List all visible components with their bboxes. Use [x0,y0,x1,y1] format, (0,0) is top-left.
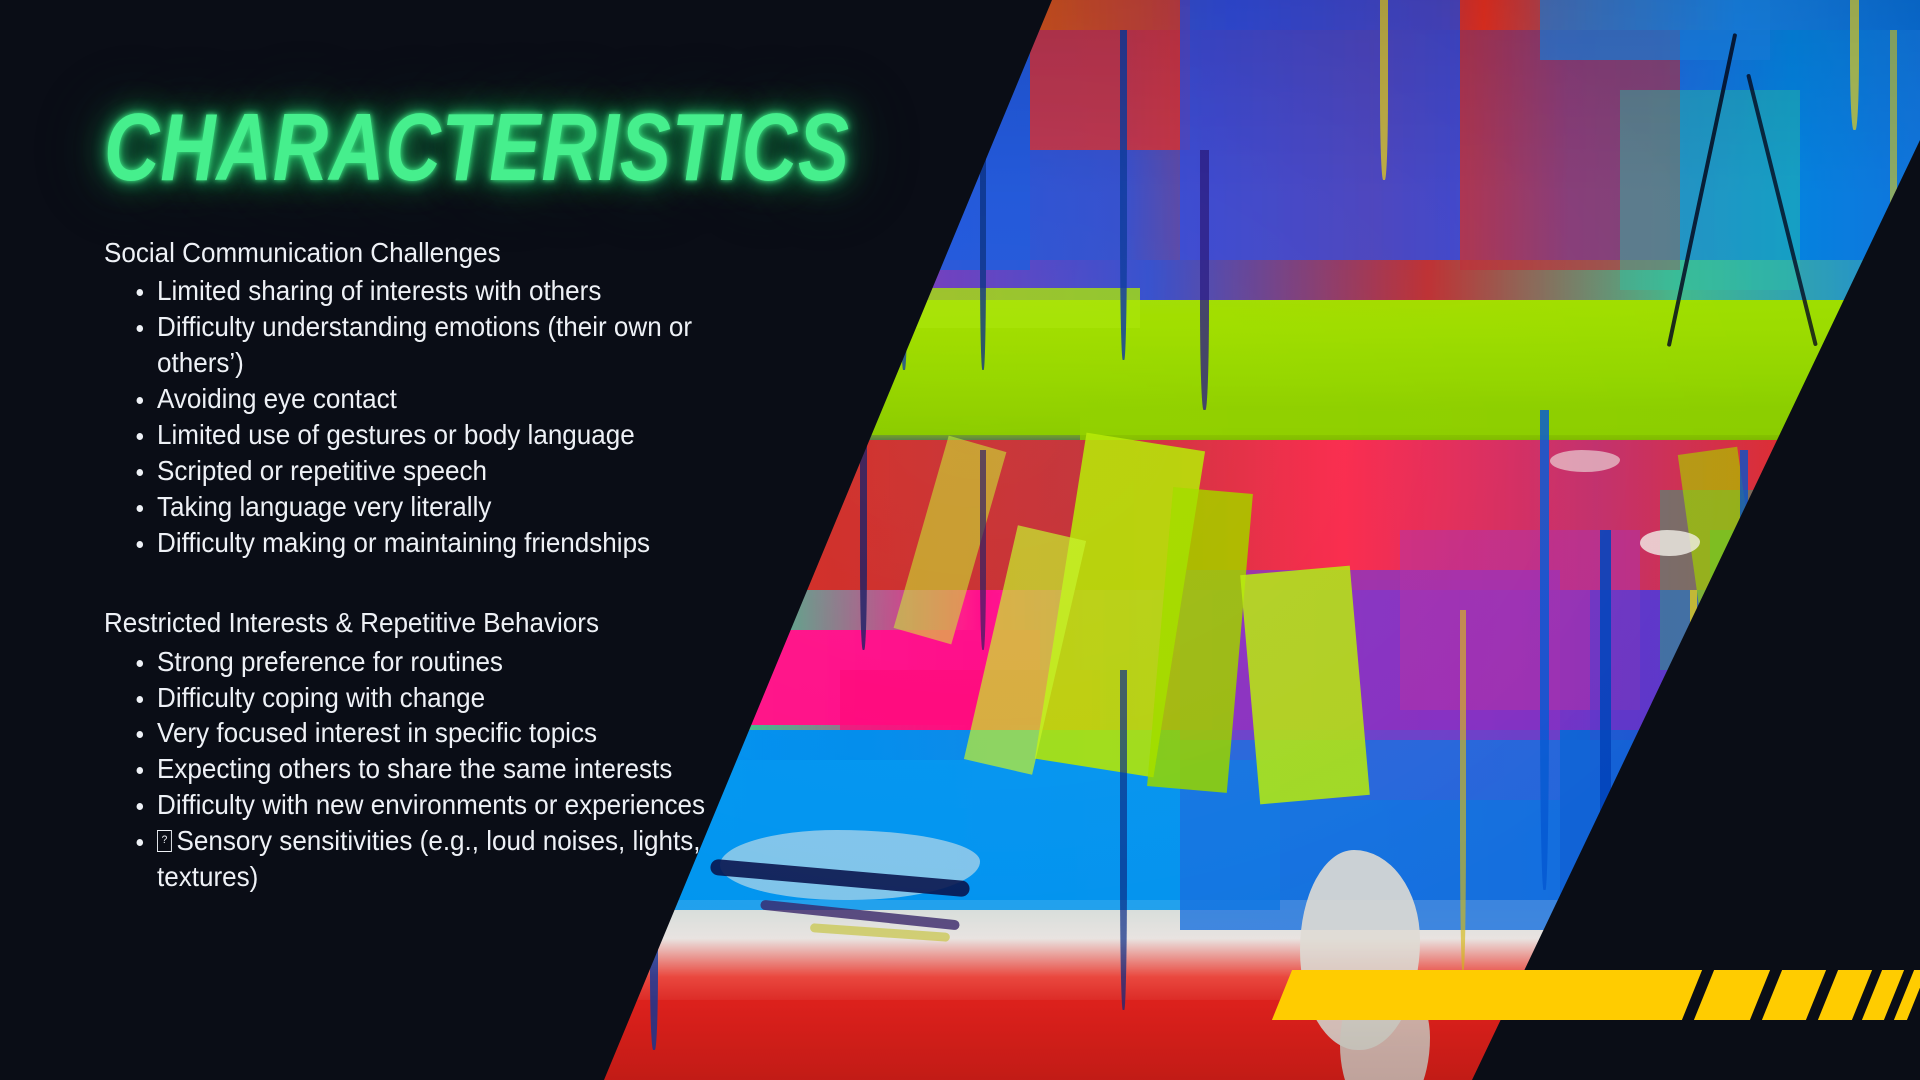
list-item: Strong preference for routines [104,644,746,680]
slide-canvas: CHARACTERISTICS Social Communication Cha… [0,0,1920,1080]
bullet-list-social-communication: Limited sharing of interests with others… [104,273,794,561]
section-heading-restricted-interests: Restricted Interests & Repetitive Behavi… [104,605,746,641]
list-item: Very focused interest in specific topics [104,715,746,751]
list-item: Scripted or repetitive speech [104,453,746,489]
list-item: Avoiding eye contact [104,381,746,417]
chevron-bar-main [1272,970,1702,1020]
list-item: Limited sharing of interests with others [104,273,746,309]
list-item-sensory: ?Sensory sensitivities (e.g., loud noise… [104,823,746,895]
list-item: Difficulty coping with change [104,680,746,716]
list-item: Difficulty understanding emotions (their… [104,309,746,381]
chevron-banner-decoration [1272,970,1920,1020]
section-heading-social-communication: Social Communication Challenges [104,235,746,271]
characteristics-content: Social Communication Challenges Limited … [104,235,794,895]
bullet-list-restricted-interests: Strong preference for routines Difficult… [104,644,794,896]
list-item: Difficulty making or maintaining friends… [104,525,746,561]
chevron-bar-2 [1762,970,1826,1020]
list-item: Difficulty with new environments or expe… [104,787,746,823]
chevron-bar-1 [1694,970,1770,1020]
missing-glyph-icon: ? [157,830,172,852]
list-item: Expecting others to share the same inter… [104,751,746,787]
page-title: CHARACTERISTICS [104,98,850,199]
section-spacer [104,561,794,605]
list-item: Limited use of gestures or body language [104,417,746,453]
list-item: Taking language very literally [104,489,746,525]
list-item-label: Sensory sensitivities (e.g., loud noises… [157,825,700,892]
